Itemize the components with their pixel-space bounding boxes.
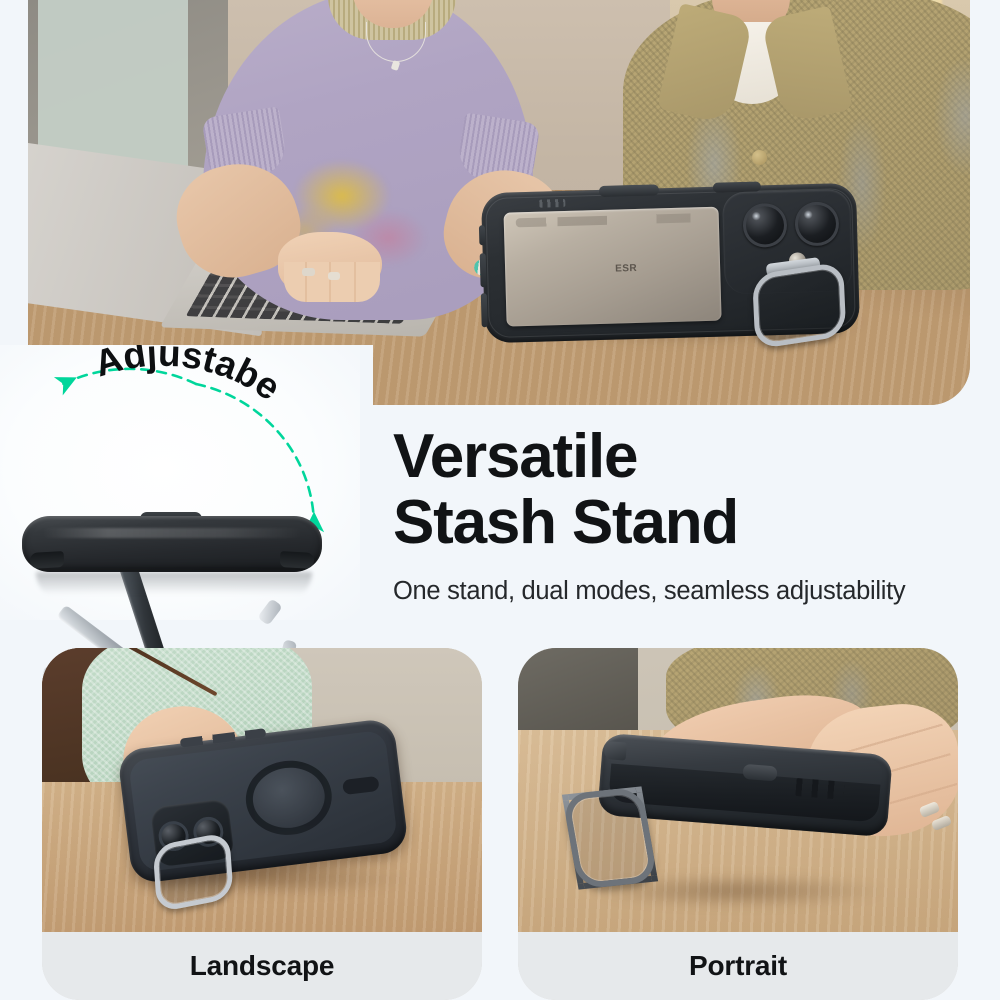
camera-lens-1 (742, 203, 787, 248)
headline-line-1: Versatile (393, 424, 993, 490)
portrait-caption-label: Portrait (689, 950, 787, 982)
profile-notch-right (280, 551, 315, 569)
portrait-caption-bar: Portrait (518, 932, 958, 1000)
camera-lens-2 (794, 201, 839, 246)
case-side-profile (22, 508, 322, 578)
landscape-mode-card: Landscape (42, 648, 482, 1000)
profile-highlight (42, 528, 304, 538)
lens-glint-2 (804, 210, 813, 219)
portrait-phone-corner (604, 741, 627, 761)
profile-case-body (22, 516, 322, 572)
side-button-volume-up (480, 253, 487, 287)
product-marketing-page: ESR (0, 0, 1000, 1000)
profile-reflection (36, 572, 312, 602)
side-button-mute (479, 225, 486, 245)
speaker-vents (539, 199, 565, 208)
portrait-speaker-slots (795, 778, 844, 800)
cardigan-button (752, 150, 767, 165)
svg-text:Adjustabe: Adjustabe (90, 345, 288, 408)
portrait-photo (518, 648, 958, 932)
landscape-caption-label: Landscape (190, 950, 334, 982)
esr-logo: ESR (615, 263, 637, 275)
adjustable-arc-label: Adjustabe (90, 345, 288, 408)
portrait-side-button (742, 764, 777, 782)
phone-case-product: ESR (481, 183, 860, 343)
profile-notch-left (30, 551, 65, 569)
subtitle: One stand, dual modes, seamless adjustab… (393, 577, 993, 606)
case-top-slot (599, 184, 659, 197)
finger-ring-1 (302, 268, 315, 276)
headline-block: Versatile Stash Stand One stand, dual mo… (393, 424, 993, 606)
finger-ring-2 (328, 272, 340, 280)
landscape-photo (42, 648, 482, 932)
adjustable-diagram: Adjustabe (0, 345, 360, 620)
person-left-fingers (284, 262, 380, 302)
headline-line-2: Stash Stand (393, 490, 993, 556)
portrait-mode-card: Portrait (518, 648, 958, 1000)
lens-glint-1 (752, 211, 761, 220)
landscape-caption-bar: Landscape (42, 932, 482, 1000)
side-button-volume-down (481, 293, 488, 327)
